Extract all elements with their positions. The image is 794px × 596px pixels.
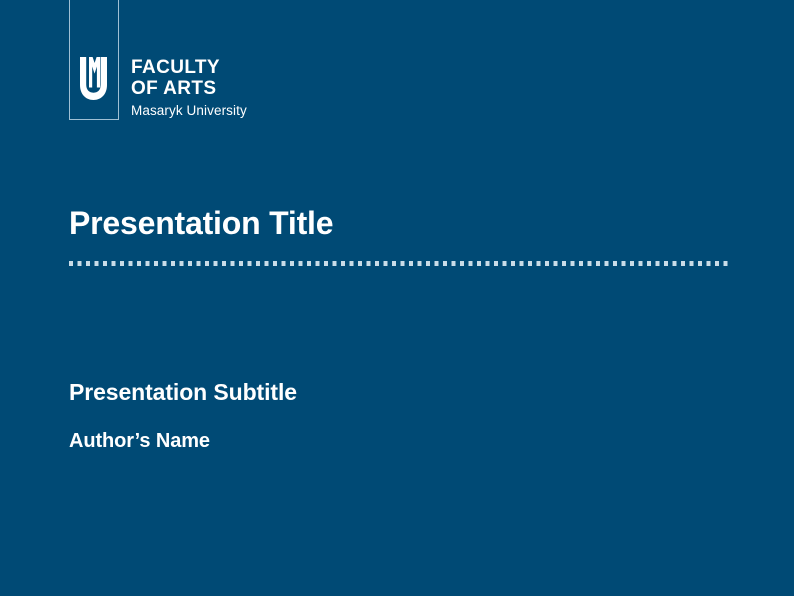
institution-logo: FACULTY OF ARTS Masaryk University (69, 0, 369, 125)
logo-faculty-line-2: OF ARTS (131, 78, 361, 99)
author-name: Author’s Name (69, 427, 210, 455)
logo-faculty-line-1: FACULTY (131, 57, 361, 78)
dotted-divider (69, 261, 729, 266)
logo-university-name: Masaryk University (131, 102, 361, 120)
title-slide: FACULTY OF ARTS Masaryk University Prese… (0, 0, 794, 596)
mu-monogram-icon (80, 57, 109, 102)
logo-wordmark: FACULTY OF ARTS Masaryk University (131, 57, 361, 120)
page-title: Presentation Title (69, 203, 333, 243)
page-subtitle: Presentation Subtitle (69, 377, 297, 407)
